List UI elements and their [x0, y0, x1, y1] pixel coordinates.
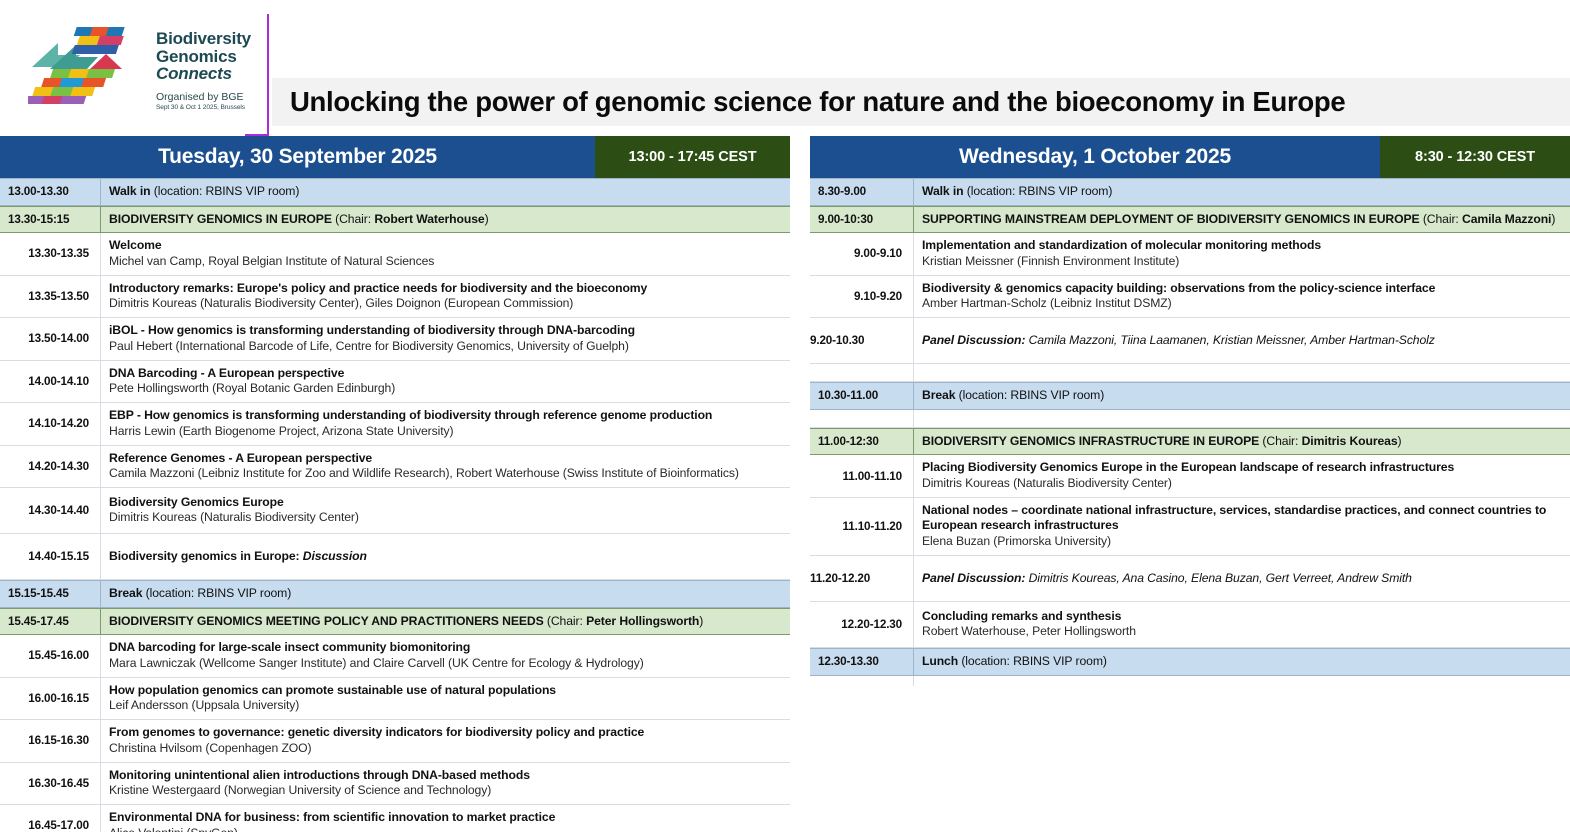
panel-title: Panel Discussion: Camila Mazzoni, Tiina …	[922, 333, 1562, 349]
row-time: 15.15-15.45	[0, 581, 101, 607]
purple-divider	[267, 14, 269, 136]
agenda-row-talk: 14.10-14.20EBP - How genomics is transfo…	[0, 403, 790, 445]
agenda-row-meal: 12.30-13.30Lunch (location: RBINS VIP ro…	[810, 648, 1570, 676]
talk-title: How population genomics can promote sust…	[109, 683, 782, 699]
talk-speakers: Mara Lawniczak (Wellcome Sanger Institut…	[109, 656, 782, 672]
row-time: 16.00-16.15	[0, 678, 101, 719]
row-body: Environmental DNA for business: from sci…	[101, 805, 790, 832]
agenda-row-break: 10.30-11.00Break (location: RBINS VIP ro…	[810, 382, 1570, 410]
talk-title: Environmental DNA for business: from sci…	[109, 810, 782, 826]
agenda-row-talk: 14.00-14.10DNA Barcoding - A European pe…	[0, 361, 790, 403]
talk-speakers: Christina Hvilsom (Copenhagen ZOO)	[109, 741, 782, 757]
row-body: Break (location: RBINS VIP room)	[914, 383, 1570, 409]
row-title: Lunch (location: RBINS VIP room)	[922, 654, 1562, 670]
agenda-row-talk: 11.10-11.20National nodes – coordinate n…	[810, 498, 1570, 556]
row-body: Implementation and standardization of mo…	[914, 233, 1570, 274]
talk-title: Placing Biodiversity Genomics Europe in …	[922, 460, 1562, 476]
row-body: Panel Discussion: Dimitris Koureas, Ana …	[914, 556, 1570, 601]
row-time: 11.00-11.10	[810, 455, 914, 496]
row-time: 16.30-16.45	[0, 763, 101, 804]
agenda-row-talk: 14.40-15.15Biodiversity genomics in Euro…	[0, 534, 790, 580]
page-title: Unlocking the power of genomic science f…	[272, 86, 1345, 118]
agenda-row-talk: 9.10-9.20Biodiversity & genomics capacit…	[810, 276, 1570, 318]
day-title-wednesday: Wednesday, 1 October 2025	[810, 136, 1380, 178]
talk-speakers: Dimitris Koureas (Naturalis Biodiversity…	[922, 476, 1562, 492]
agenda-row-talk: 16.15-16.30From genomes to governance: g…	[0, 720, 790, 762]
day-column-tuesday: Tuesday, 30 September 2025 13:00 - 17:45…	[0, 136, 790, 832]
agenda-row-talk: 12.20-12.30Concluding remarks and synthe…	[810, 602, 1570, 648]
row-time: 9.00-9.10	[810, 233, 914, 274]
row-body: EBP - How genomics is transforming under…	[101, 403, 790, 444]
talk-title: iBOL - How genomics is transforming unde…	[109, 323, 782, 339]
header-title-bar: Unlocking the power of genomic science f…	[272, 78, 1570, 126]
row-body: Placing Biodiversity Genomics Europe in …	[914, 455, 1570, 496]
row-body: BIODIVERSITY GENOMICS INFRASTRUCTURE IN …	[914, 429, 1570, 455]
talk-title: Reference Genomes - A European perspecti…	[109, 451, 782, 467]
row-body: DNA barcoding for large-scale insect com…	[101, 635, 790, 676]
row-time	[810, 676, 914, 686]
row-time: 13.30-13.35	[0, 233, 101, 274]
agenda-row-spacer	[810, 410, 1570, 428]
agenda-row-break: 15.15-15.45Break (location: RBINS VIP ro…	[0, 580, 790, 608]
logo-wordmark: Biodiversity Genomics Connects Organised…	[156, 30, 251, 112]
row-time: 11.10-11.20	[810, 498, 914, 555]
agenda-rows-tuesday: 13.00-13.30Walk in (location: RBINS VIP …	[0, 178, 790, 832]
talk-speakers: Michel van Camp, Royal Belgian Institute…	[109, 254, 782, 270]
row-body: From genomes to governance: genetic dive…	[101, 720, 790, 761]
talk-title: DNA Barcoding - A European perspective	[109, 366, 782, 382]
talk-title: Biodiversity genomics in Europe: Discuss…	[109, 549, 782, 565]
talk-title: Welcome	[109, 238, 782, 254]
agenda-row-panel: 11.20-12.20Panel Discussion: Dimitris Ko…	[810, 556, 1570, 602]
agenda-row-talk: 11.00-11.10Placing Biodiversity Genomics…	[810, 455, 1570, 497]
agenda-row-talk: 14.20-14.30Reference Genomes - A Europea…	[0, 446, 790, 488]
row-time: 13.35-13.50	[0, 276, 101, 317]
talk-speakers: Pete Hollingsworth (Royal Botanic Garden…	[109, 381, 782, 397]
talk-speakers: Leif Andersson (Uppsala University)	[109, 698, 782, 714]
talk-title: DNA barcoding for large-scale insect com…	[109, 640, 782, 656]
agenda-row-talk: 16.30-16.45Monitoring unintentional alie…	[0, 763, 790, 805]
day-header-tuesday: Tuesday, 30 September 2025 13:00 - 17:45…	[0, 136, 790, 178]
row-time	[810, 364, 914, 381]
row-time: 9.00-10:30	[810, 207, 914, 233]
row-body: Concluding remarks and synthesisRobert W…	[914, 602, 1570, 647]
agenda-row-talk: 16.00-16.15How population genomics can p…	[0, 678, 790, 720]
logo-event-dates: Sept 30 & Oct 1 2025, Brussels	[156, 104, 251, 112]
agenda-row-talk: 15.45-16.00DNA barcoding for large-scale…	[0, 635, 790, 677]
row-time: 15.45-17.45	[0, 609, 101, 635]
row-time: 9.20-10.30	[810, 318, 914, 363]
talk-speakers: Elena Buzan (Primorska University)	[922, 534, 1562, 550]
talk-title: EBP - How genomics is transforming under…	[109, 408, 782, 424]
talk-title: Introductory remarks: Europe's policy an…	[109, 281, 782, 297]
talk-speakers: Alice Valentini (SpyGen)	[109, 826, 782, 832]
row-time: 10.30-11.00	[810, 383, 914, 409]
agenda-page: Biodiversity Genomics Connects Organised…	[0, 0, 1570, 832]
agenda-row-talk: 9.00-9.10Implementation and standardizat…	[810, 233, 1570, 275]
row-body: Walk in (location: RBINS VIP room)	[101, 179, 790, 205]
row-time: 14.40-15.15	[0, 534, 101, 579]
talk-speakers: Kristine Westergaard (Norwegian Universi…	[109, 783, 782, 799]
agenda-row-session: 13.30-15:15BIODIVERSITY GENOMICS IN EURO…	[0, 206, 790, 234]
talk-title: Biodiversity Genomics Europe	[109, 495, 782, 511]
logo-line-1: Biodiversity	[156, 30, 251, 48]
agenda-rows-filler	[810, 676, 1570, 686]
row-body: Lunch (location: RBINS VIP room)	[914, 649, 1570, 675]
logo-line-2: Genomics	[156, 48, 251, 66]
talk-title: Implementation and standardization of mo…	[922, 238, 1562, 254]
agenda-row-spacer	[810, 364, 1570, 382]
agenda-row-talk: 14.30-14.40Biodiversity Genomics EuropeD…	[0, 488, 790, 534]
row-time: 16.15-16.30	[0, 720, 101, 761]
session-title: BIODIVERSITY GENOMICS INFRASTRUCTURE IN …	[922, 434, 1562, 450]
row-time: 16.45-17.00	[0, 805, 101, 832]
row-body: Biodiversity genomics in Europe: Discuss…	[101, 534, 790, 579]
row-body: How population genomics can promote sust…	[101, 678, 790, 719]
session-title: BIODIVERSITY GENOMICS MEETING POLICY AND…	[109, 614, 782, 630]
row-body: Break (location: RBINS VIP room)	[101, 581, 790, 607]
row-body	[914, 410, 1570, 427]
row-time: 14.00-14.10	[0, 361, 101, 402]
talk-title: Monitoring unintentional alien introduct…	[109, 768, 782, 784]
row-body: DNA Barcoding - A European perspectivePe…	[101, 361, 790, 402]
column-gap	[790, 136, 810, 832]
agenda-row-talk: 13.50-14.00iBOL - How genomics is transf…	[0, 318, 790, 360]
row-time: 11.00-12:30	[810, 429, 914, 455]
talk-speakers: Robert Waterhouse, Peter Hollingsworth	[922, 624, 1562, 640]
day-timerange-tuesday: 13:00 - 17:45 CEST	[595, 136, 790, 178]
row-time: 14.30-14.40	[0, 488, 101, 533]
top-banner: Biodiversity Genomics Connects Organised…	[0, 0, 1570, 136]
row-body: Introductory remarks: Europe's policy an…	[101, 276, 790, 317]
row-body: Biodiversity & genomics capacity buildin…	[914, 276, 1570, 317]
agenda-row-talk: 16.45-17.00Environmental DNA for busines…	[0, 805, 790, 832]
agenda-row-break: 8.30-9.00Walk in (location: RBINS VIP ro…	[810, 178, 1570, 206]
row-body: Walk in (location: RBINS VIP room)	[914, 179, 1570, 205]
row-time: 13.00-13.30	[0, 179, 101, 205]
row-time: 13.30-15:15	[0, 207, 101, 233]
row-body: Monitoring unintentional alien introduct…	[101, 763, 790, 804]
agenda-row-session: 9.00-10:30SUPPORTING MAINSTREAM DEPLOYME…	[810, 206, 1570, 234]
talk-speakers: Camila Mazzoni (Leibniz Institute for Zo…	[109, 466, 782, 482]
day-column-wednesday: Wednesday, 1 October 2025 8:30 - 12:30 C…	[810, 136, 1570, 832]
logo-organiser: Organised by BGE	[156, 91, 251, 103]
talk-speakers: Kristian Meissner (Finnish Environment I…	[922, 254, 1562, 270]
row-body: SUPPORTING MAINSTREAM DEPLOYMENT OF BIOD…	[914, 207, 1570, 233]
talk-speakers: Amber Hartman-Scholz (Leibniz Institut D…	[922, 296, 1562, 312]
talk-title: Biodiversity & genomics capacity buildin…	[922, 281, 1562, 297]
row-body: Biodiversity Genomics EuropeDimitris Kou…	[101, 488, 790, 533]
row-time: 12.30-13.30	[810, 649, 914, 675]
row-time	[810, 410, 914, 427]
row-title: Walk in (location: RBINS VIP room)	[109, 184, 782, 200]
talk-speakers: Paul Hebert (International Barcode of Li…	[109, 339, 782, 355]
agenda-row-session: 15.45-17.45BIODIVERSITY GENOMICS MEETING…	[0, 608, 790, 636]
row-body: BIODIVERSITY GENOMICS IN EUROPE (Chair: …	[101, 207, 790, 233]
agenda-columns: Tuesday, 30 September 2025 13:00 - 17:45…	[0, 136, 1570, 832]
agenda-row-session: 11.00-12:30BIODIVERSITY GENOMICS INFRAST…	[810, 428, 1570, 456]
logo-line-3: Connects	[156, 65, 251, 84]
row-time: 14.10-14.20	[0, 403, 101, 444]
row-time: 15.45-16.00	[0, 635, 101, 676]
row-time: 14.20-14.30	[0, 446, 101, 487]
talk-speakers: Harris Lewin (Earth Biogenome Project, A…	[109, 424, 782, 440]
day-title-tuesday: Tuesday, 30 September 2025	[0, 136, 595, 178]
row-time: 11.20-12.20	[810, 556, 914, 601]
row-body: WelcomeMichel van Camp, Royal Belgian In…	[101, 233, 790, 274]
session-title: SUPPORTING MAINSTREAM DEPLOYMENT OF BIOD…	[922, 212, 1562, 228]
row-body: iBOL - How genomics is transforming unde…	[101, 318, 790, 359]
row-time: 13.50-14.00	[0, 318, 101, 359]
agenda-row-panel: 9.20-10.30Panel Discussion: Camila Mazzo…	[810, 318, 1570, 364]
bgc-logo-mark-icon	[28, 23, 146, 119]
session-title: BIODIVERSITY GENOMICS IN EUROPE (Chair: …	[109, 212, 782, 228]
row-body	[914, 676, 1570, 686]
row-title: Walk in (location: RBINS VIP room)	[922, 184, 1562, 200]
row-body	[914, 364, 1570, 381]
talk-speakers: Dimitris Koureas (Naturalis Biodiversity…	[109, 296, 782, 312]
day-timerange-wednesday: 8:30 - 12:30 CEST	[1380, 136, 1570, 178]
day-header-wednesday: Wednesday, 1 October 2025 8:30 - 12:30 C…	[810, 136, 1570, 178]
row-body: Reference Genomes - A European perspecti…	[101, 446, 790, 487]
row-body: National nodes – coordinate national inf…	[914, 498, 1570, 555]
row-title: Break (location: RBINS VIP room)	[109, 586, 782, 602]
row-time: 8.30-9.00	[810, 179, 914, 205]
row-title: Break (location: RBINS VIP room)	[922, 388, 1562, 404]
agenda-row-talk: 13.30-13.35WelcomeMichel van Camp, Royal…	[0, 233, 790, 275]
row-time: 9.10-9.20	[810, 276, 914, 317]
agenda-row-talk: 13.35-13.50Introductory remarks: Europe'…	[0, 276, 790, 318]
row-body: Panel Discussion: Camila Mazzoni, Tiina …	[914, 318, 1570, 363]
panel-title: Panel Discussion: Dimitris Koureas, Ana …	[922, 571, 1562, 587]
talk-title: From genomes to governance: genetic dive…	[109, 725, 782, 741]
row-body: BIODIVERSITY GENOMICS MEETING POLICY AND…	[101, 609, 790, 635]
agenda-row-break: 13.00-13.30Walk in (location: RBINS VIP …	[0, 178, 790, 206]
talk-title: Concluding remarks and synthesis	[922, 609, 1562, 625]
row-time: 12.20-12.30	[810, 602, 914, 647]
talk-title: National nodes – coordinate national inf…	[922, 503, 1562, 534]
talk-speakers: Dimitris Koureas (Naturalis Biodiversity…	[109, 510, 782, 526]
event-logo: Biodiversity Genomics Connects Organised…	[28, 22, 260, 120]
agenda-rows-wednesday: 8.30-9.00Walk in (location: RBINS VIP ro…	[810, 178, 1570, 686]
